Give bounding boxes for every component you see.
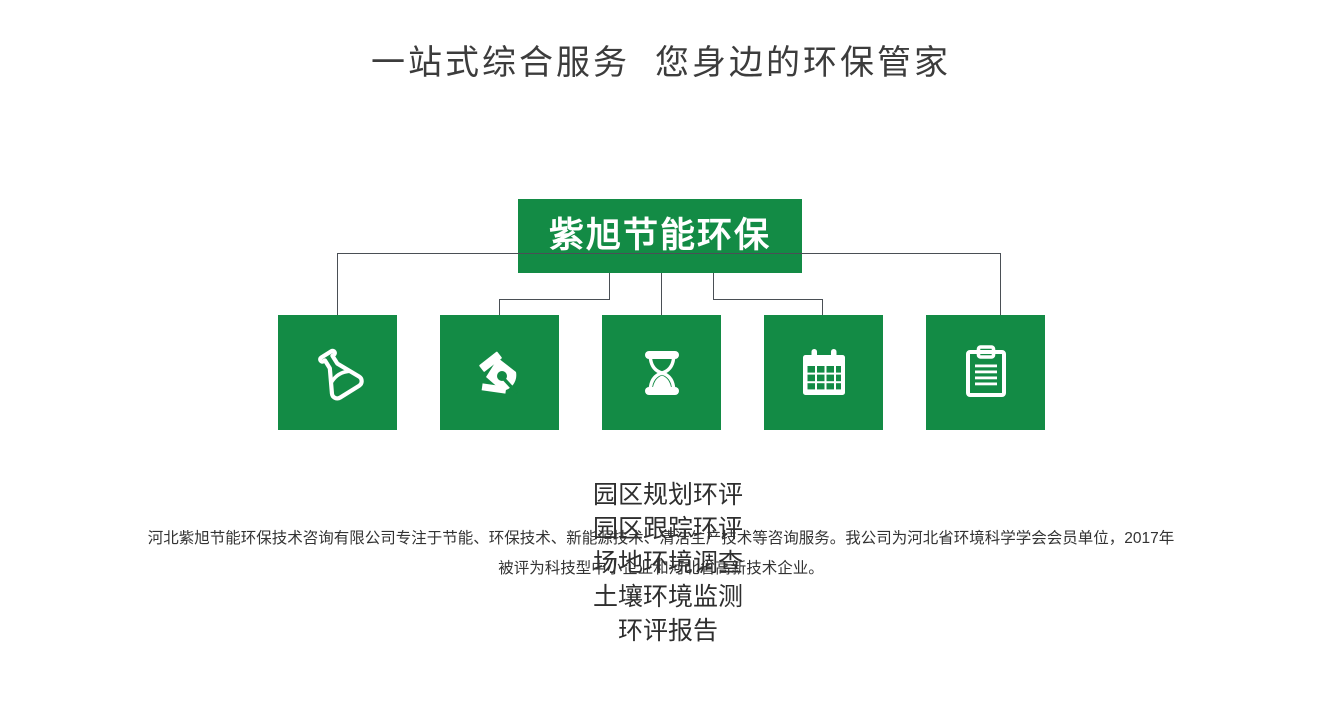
org-node-5[interactable] [926, 315, 1045, 430]
flask-icon [306, 341, 370, 405]
org-node-label-4: 土壤环境监测 [593, 583, 743, 611]
company-description: 河北紫旭节能环保技术咨询有限公司专注于节能、环保技术、新能源技术、清洁生产技术等… [61, 524, 1261, 584]
pen-nib-icon [468, 341, 532, 405]
connector-vertical-root-right [713, 273, 714, 300]
clipboard-icon [954, 341, 1018, 405]
org-root-label: 紫旭节能环保 [549, 216, 771, 256]
connector-vertical-node-3 [661, 273, 662, 315]
connector-vertical-root-left [609, 273, 610, 300]
connector-vertical-node-5 [1000, 253, 1001, 315]
connector-horizontal-node-2 [499, 299, 610, 300]
org-node-3[interactable] [602, 315, 721, 430]
org-root-node[interactable]: 紫旭节能环保 [518, 199, 802, 273]
connector-vertical-node-4 [822, 299, 823, 315]
org-node-4[interactable] [764, 315, 883, 430]
connector-horizontal-node-4 [713, 299, 823, 300]
org-node-label-5: 环评报告 [618, 617, 718, 645]
hourglass-icon [630, 341, 694, 405]
connector-vertical-node-1 [337, 253, 338, 315]
org-node-label-1: 园区规划环评 [593, 481, 743, 509]
connector-top-horizontal [337, 253, 1001, 254]
calendar-icon [792, 341, 856, 405]
connector-vertical-node-2 [499, 299, 500, 315]
company-description-line-2: 被评为科技型中小企业和河北省高新技术企业。 [61, 554, 1261, 584]
company-description-line-1: 河北紫旭节能环保技术咨询有限公司专注于节能、环保技术、新能源技术、清洁生产技术等… [148, 530, 1175, 547]
org-node-1[interactable] [278, 315, 397, 430]
org-node-2[interactable] [440, 315, 559, 430]
